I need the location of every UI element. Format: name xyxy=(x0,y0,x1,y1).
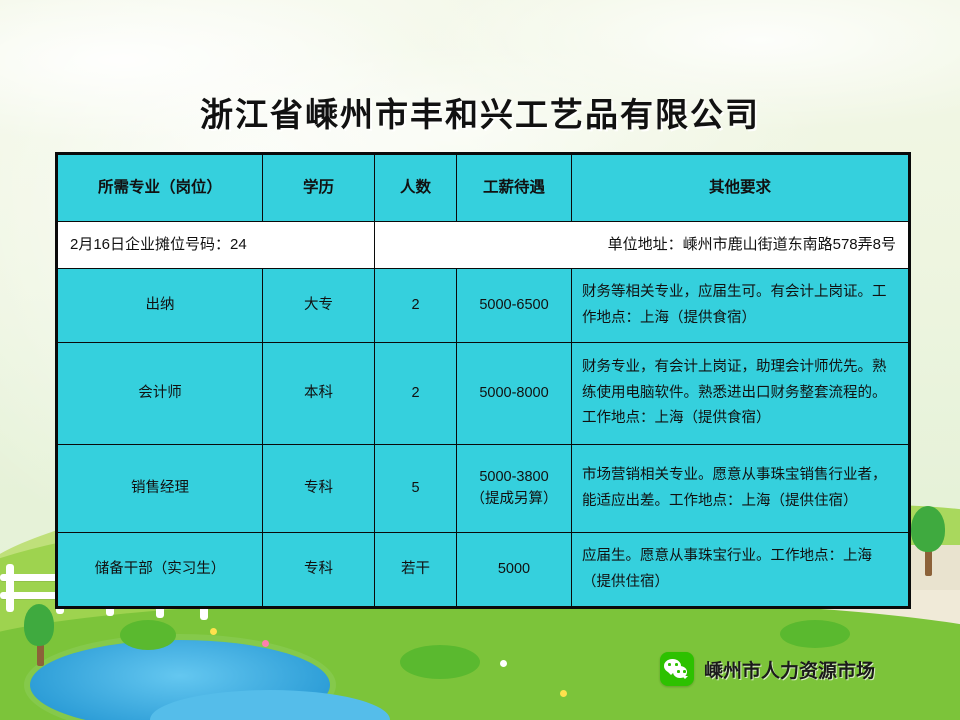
cell-requirements: 财务专业，有会计上岗证，助理会计师优先。熟练使用电脑软件。熟悉进出口财务整套流程… xyxy=(572,343,909,445)
footer-label: 嵊州市人力资源市场 xyxy=(704,656,875,683)
flower-1 xyxy=(210,628,217,635)
header-requirements: 其他要求 xyxy=(572,155,909,222)
cell-requirements: 应届生。愿意从事珠宝行业。工作地点：上海（提供住宿） xyxy=(572,533,909,607)
cell-position: 出纳 xyxy=(58,269,263,343)
cell-count: 5 xyxy=(375,445,457,533)
table-row: 销售经理 专科 5 5000-3800（提成另算） 市场营销相关专业。愿意从事珠… xyxy=(58,445,909,533)
bush-1 xyxy=(120,620,176,650)
bush-3 xyxy=(780,620,850,648)
cell-salary: 5000-6500 xyxy=(457,269,572,343)
wechat-icon xyxy=(660,652,694,686)
header-position: 所需专业（岗位） xyxy=(58,155,263,222)
tree-right-1 xyxy=(905,500,951,580)
cell-requirements: 财务等相关专业，应届生可。有会计上岗证。工作地点：上海（提供食宿） xyxy=(572,269,909,343)
cell-salary: 5000-3800（提成另算） xyxy=(457,445,572,533)
table-meta-row: 2月16日企业摊位号码：24 单位地址：嵊州市鹿山街道东南路578弄8号 xyxy=(58,222,909,269)
table-row: 出纳 大专 2 5000-6500 财务等相关专业，应届生可。有会计上岗证。工作… xyxy=(58,269,909,343)
table-row: 储备干部（实习生） 专科 若干 5000 应届生。愿意从事珠宝行业。工作地点：上… xyxy=(58,533,909,607)
company-address: 单位地址：嵊州市鹿山街道东南路578弄8号 xyxy=(375,222,909,269)
header-count: 人数 xyxy=(375,155,457,222)
cell-salary: 5000-8000 xyxy=(457,343,572,445)
flower-3 xyxy=(500,660,507,667)
table-header-row: 所需专业（岗位） 学历 人数 工薪待遇 其他要求 xyxy=(58,155,909,222)
page-title: 浙江省嵊州市丰和兴工艺品有限公司 xyxy=(0,88,960,136)
cell-position: 会计师 xyxy=(58,343,263,445)
cell-education: 本科 xyxy=(263,343,375,445)
flower-2 xyxy=(262,640,269,647)
cell-education: 专科 xyxy=(263,533,375,607)
footer-badge: 嵊州市人力资源市场 xyxy=(660,652,875,686)
cell-requirements: 市场营销相关专业。愿意从事珠宝销售行业者，能适应出差。工作地点：上海（提供住宿） xyxy=(572,445,909,533)
table-row: 会计师 本科 2 5000-8000 财务专业，有会计上岗证，助理会计师优先。熟… xyxy=(58,343,909,445)
cell-position: 储备干部（实习生） xyxy=(58,533,263,607)
cell-count: 2 xyxy=(375,343,457,445)
flower-4 xyxy=(560,690,567,697)
bush-2 xyxy=(400,645,480,679)
tree-left-1 xyxy=(20,600,60,670)
cell-count: 2 xyxy=(375,269,457,343)
cell-count: 若干 xyxy=(375,533,457,607)
cell-salary: 5000 xyxy=(457,533,572,607)
recruitment-table: 2月16日企业摊位号码：24 单位地址：嵊州市鹿山街道东南路578弄8号 所需专… xyxy=(55,152,911,609)
header-education: 学历 xyxy=(263,155,375,222)
cell-position: 销售经理 xyxy=(58,445,263,533)
cell-education: 专科 xyxy=(263,445,375,533)
header-salary: 工薪待遇 xyxy=(457,155,572,222)
booth-number: 2月16日企业摊位号码：24 xyxy=(58,222,375,269)
cell-education: 大专 xyxy=(263,269,375,343)
